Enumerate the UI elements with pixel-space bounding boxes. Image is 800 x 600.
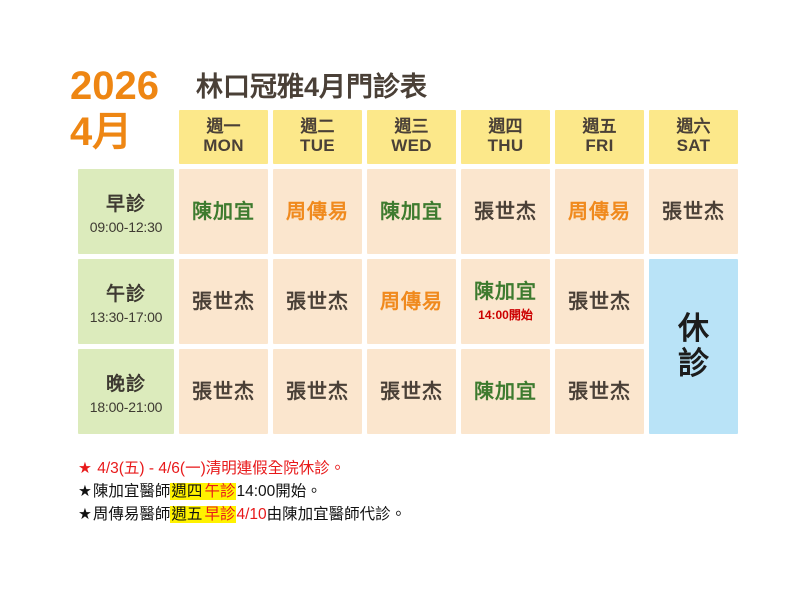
slot-tue-morning: 周傳易 [273, 169, 362, 254]
slot-thu-evening: 陳加宜 [461, 349, 550, 434]
footnote-text: 4/3(五) - 4/6(一)清明連假全院休診。 [93, 460, 345, 477]
doctor-name: 張世杰 [568, 381, 631, 403]
closed-label: 休診 [678, 312, 709, 381]
day-header-sat: 週六 SAT [649, 110, 738, 164]
period-time: 13:30-17:00 [90, 309, 163, 325]
day-header-en: MON [179, 136, 268, 155]
slot-tue-afternoon: 張世杰 [273, 259, 362, 344]
slot-fri-evening: 張世杰 [555, 349, 644, 434]
period-label-evening: 晚診 18:00-21:00 [78, 349, 174, 434]
day-header-fri: 週五 FRI [555, 110, 644, 164]
footnote-text: 14:00開始。 [236, 483, 321, 500]
day-header-cn: 週四 [461, 117, 550, 136]
page-title: 林口冠雅4月門診表 [196, 74, 427, 101]
day-header-mon: 週一 MON [179, 110, 268, 164]
footnotes: ★ 4/3(五) - 4/6(一)清明連假全院休診。 ★陳加宜醫師週四午診14:… [78, 458, 778, 527]
day-header-en: THU [461, 136, 550, 155]
doctor-name: 陳加宜 [380, 201, 443, 223]
slot-mon-afternoon: 張世杰 [179, 259, 268, 344]
bullet-star-icon: ★ [78, 483, 92, 500]
doctor-name: 張世杰 [380, 381, 443, 403]
slot-wed-morning: 陳加宜 [367, 169, 456, 254]
footnote-highlight-day: 週四 [170, 483, 203, 500]
slot-note: 14:00開始 [478, 306, 533, 323]
period-name: 午診 [106, 279, 146, 306]
footnote-highlight-period: 早診 [203, 506, 236, 523]
schedule-grid: 週一 MON 週二 TUE 週三 WED 週四 THU 週五 FRI 週六 SA… [78, 110, 738, 434]
slot-mon-evening: 張世杰 [179, 349, 268, 434]
table-corner-spacer [78, 110, 174, 164]
slot-thu-afternoon: 陳加宜 14:00開始 [461, 259, 550, 344]
day-header-en: FRI [555, 136, 644, 155]
slot-wed-afternoon: 周傳易 [367, 259, 456, 344]
doctor-name: 陳加宜 [474, 281, 537, 303]
day-header-cn: 週三 [367, 117, 456, 136]
day-header-cn: 週一 [179, 117, 268, 136]
slot-tue-evening: 張世杰 [273, 349, 362, 434]
doctor-name: 張世杰 [662, 201, 725, 223]
day-header-thu: 週四 THU [461, 110, 550, 164]
doctor-name: 陳加宜 [474, 381, 537, 403]
doctor-name: 張世杰 [192, 291, 255, 313]
doctor-name: 周傳易 [286, 201, 349, 223]
day-header-en: SAT [649, 136, 738, 155]
doctor-name: 張世杰 [192, 381, 255, 403]
doctor-name: 周傳易 [380, 291, 443, 313]
slot-fri-afternoon: 張世杰 [555, 259, 644, 344]
period-name: 早診 [106, 189, 146, 216]
bullet-star-icon: ★ [78, 506, 92, 523]
slot-wed-evening: 張世杰 [367, 349, 456, 434]
slot-thu-morning: 張世杰 [461, 169, 550, 254]
period-label-afternoon: 午診 13:30-17:00 [78, 259, 174, 344]
footnote-highlight-day: 週五 [170, 506, 203, 523]
closed-block-saturday: 休診 [649, 259, 738, 434]
period-label-morning: 早診 09:00-12:30 [78, 169, 174, 254]
footnote-fri-morning: ★周傳易醫師週五早診4/10由陳加宜醫師代診。 [78, 504, 778, 527]
footnote-thu-afternoon: ★陳加宜醫師週四午診14:00開始。 [78, 481, 778, 504]
doctor-name: 陳加宜 [192, 201, 255, 223]
slot-fri-morning: 周傳易 [555, 169, 644, 254]
footnote-date: 4/10 [236, 506, 266, 523]
period-name: 晚診 [106, 369, 146, 396]
day-header-wed: 週三 WED [367, 110, 456, 164]
doctor-name: 張世杰 [286, 381, 349, 403]
slot-sat-morning: 張世杰 [649, 169, 738, 254]
doctor-name: 張世杰 [286, 291, 349, 313]
doctor-name: 張世杰 [568, 291, 631, 313]
footnote-highlight-period: 午診 [203, 483, 236, 500]
day-header-en: WED [367, 136, 456, 155]
footnote-holiday: ★ 4/3(五) - 4/6(一)清明連假全院休診。 [78, 458, 778, 481]
slot-mon-morning: 陳加宜 [179, 169, 268, 254]
day-header-en: TUE [273, 136, 362, 155]
day-header-tue: 週二 TUE [273, 110, 362, 164]
footnote-text: 陳加宜醫師 [93, 483, 171, 500]
day-header-cn: 週五 [555, 117, 644, 136]
day-header-cn: 週二 [273, 117, 362, 136]
day-header-cn: 週六 [649, 117, 738, 136]
year-label: 2026 [70, 66, 159, 106]
period-time: 18:00-21:00 [90, 399, 163, 415]
doctor-name: 周傳易 [568, 201, 631, 223]
footnote-text: 由陳加宜醫師代診。 [267, 506, 407, 523]
bullet-star-icon: ★ [78, 460, 92, 477]
clinic-schedule-page: 2026 4月 林口冠雅4月門診表 週一 MON 週二 TUE 週三 WED 週… [0, 0, 800, 600]
footnote-text: 周傳易醫師 [93, 506, 171, 523]
doctor-name: 張世杰 [474, 201, 537, 223]
schedule-table: 週一 MON 週二 TUE 週三 WED 週四 THU 週五 FRI 週六 SA… [78, 110, 738, 434]
period-time: 09:00-12:30 [90, 219, 163, 235]
